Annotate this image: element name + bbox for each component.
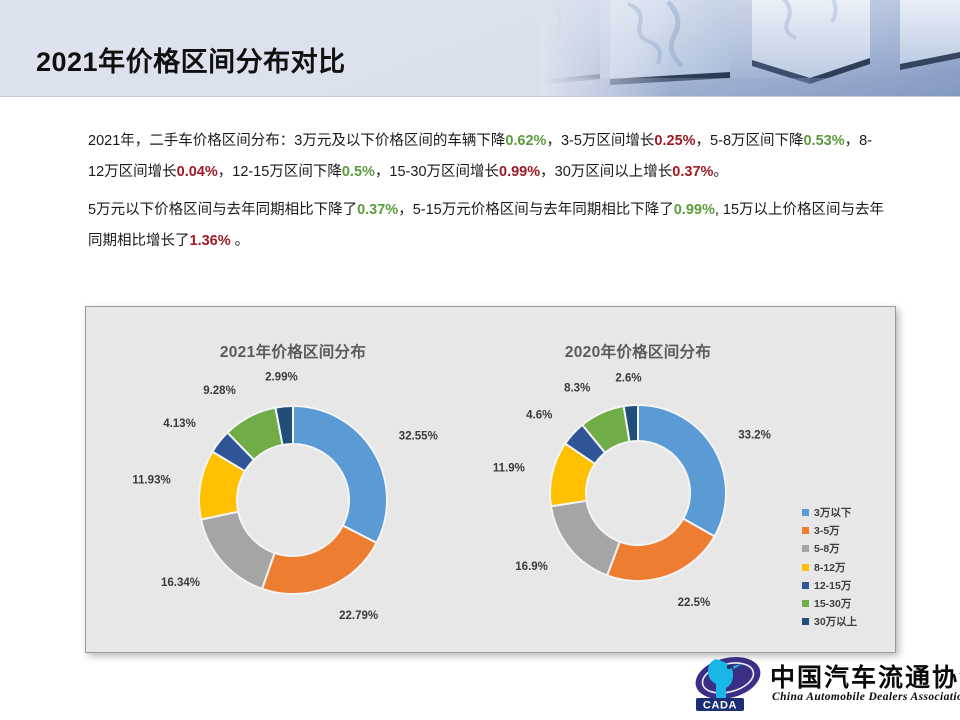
donut-label-12-15万: 4.6% <box>526 410 552 422</box>
legend-swatch-icon <box>802 509 809 516</box>
donut-slice-3-5万[interactable] <box>607 519 714 581</box>
slide-header: 2021年价格区间分布对比 <box>0 0 960 97</box>
text-run: ，12-15万区间下降 <box>218 164 342 180</box>
cada-logo: CADA 中国汽车流通协会 China Automobile Dealers A… <box>694 654 956 716</box>
donut-slice-3万以下[interactable] <box>293 406 387 543</box>
donut-label-15-30万: 9.28% <box>203 385 236 397</box>
increase-value: 1.36% <box>190 233 231 249</box>
text-run: 。 <box>231 233 250 249</box>
donut-label-8-12万: 11.93% <box>132 475 170 487</box>
chart-2021: 2021年价格区间分布 32.55%22.79%16.34%11.93%4.13… <box>98 307 488 654</box>
increase-value: 0.25% <box>654 133 695 149</box>
chart-legend: 3万以下3-5万5-8万8-12万12-15万15-30万30万以上 <box>802 503 884 631</box>
legend-item-3[interactable]: 8-12万 <box>802 558 884 576</box>
decrease-value: 0.53% <box>804 133 845 149</box>
header-divider <box>0 96 960 97</box>
legend-label: 3万以下 <box>814 505 851 520</box>
donut-label-3万以下: 32.55% <box>399 430 438 442</box>
body-text-block: 2021年，二手车价格区间分布：3万元及以下价格区间的车辆下降0.62%，3-5… <box>88 126 888 256</box>
text-run: ，3-5万区间增长 <box>546 133 654 149</box>
text-run: ，5-8万区间下降 <box>696 133 804 149</box>
chart-2021-title: 2021年价格区间分布 <box>98 340 488 362</box>
legend-item-5[interactable]: 15-30万 <box>802 594 884 612</box>
legend-item-6[interactable]: 30万以上 <box>802 613 884 631</box>
legend-swatch-icon <box>802 545 809 552</box>
text-run: ，5-15万元价格区间与去年同期相比下降了 <box>398 202 674 218</box>
chart-2020: 2020年价格区间分布 33.2%22.5%16.9%11.9%4.6%8.3%… <box>488 307 788 654</box>
increase-value: 0.99% <box>499 164 540 180</box>
decrease-value: 0.5% <box>342 164 375 180</box>
donut-slice-3万以下[interactable] <box>638 405 726 536</box>
donut-label-12-15万: 4.13% <box>163 418 196 430</box>
legend-label: 30万以上 <box>814 614 857 629</box>
cada-bird-globe-logo-icon: CADA <box>694 656 766 712</box>
donut-label-30万以上: 2.99% <box>265 372 298 384</box>
chart-2020-title: 2020年价格区间分布 <box>488 340 788 362</box>
decrease-value: 0.99% <box>674 202 715 218</box>
summary-paragraph-1: 2021年，二手车价格区间分布：3万元及以下价格区间的车辆下降0.62%，3-5… <box>88 126 888 187</box>
donut-label-3-5万: 22.5% <box>678 597 711 609</box>
legend-item-2[interactable]: 5-8万 <box>802 540 884 558</box>
donut-label-15-30万: 8.3% <box>564 382 590 394</box>
legend-swatch-icon <box>802 618 809 625</box>
donut-label-5-8万: 16.9% <box>515 561 548 573</box>
donut-slice-5-8万[interactable] <box>201 512 275 589</box>
donut-label-5-8万: 16.34% <box>161 577 200 589</box>
donut-slice-5-8万[interactable] <box>551 501 620 576</box>
logo-chinese-name: 中国汽车流通协会 <box>770 658 960 694</box>
decrease-value: 0.62% <box>505 133 546 149</box>
legend-swatch-icon <box>802 600 809 607</box>
legend-swatch-icon <box>802 564 809 571</box>
increase-value: 0.04% <box>177 164 218 180</box>
increase-value: 0.37% <box>672 164 713 180</box>
text-run: 5万元以下价格区间与去年同期相比下降了 <box>88 202 357 218</box>
donut-label-30万以上: 2.6% <box>615 372 641 384</box>
legend-item-4[interactable]: 12-15万 <box>802 576 884 594</box>
legend-swatch-icon <box>802 582 809 589</box>
cada-abbr-text: CADA <box>703 699 737 711</box>
donut-label-3万以下: 33.2% <box>738 430 771 442</box>
donut-slice-3-5万[interactable] <box>262 526 377 594</box>
legend-swatch-icon <box>802 527 809 534</box>
text-run: 2021年，二手车价格区间分布：3万元及以下价格区间的车辆下降 <box>88 133 505 149</box>
legend-label: 15-30万 <box>814 596 851 611</box>
page-title: 2021年价格区间分布对比 <box>36 40 346 79</box>
donut-label-3-5万: 22.79% <box>339 610 378 622</box>
text-run: ，30万区间以上增长 <box>540 164 672 180</box>
charts-panel: 2021年价格区间分布 32.55%22.79%16.34%11.93%4.13… <box>85 306 896 653</box>
legend-label: 3-5万 <box>814 523 840 538</box>
summary-paragraph-2: 5万元以下价格区间与去年同期相比下降了0.37%，5-15万元价格区间与去年同期… <box>88 195 888 256</box>
text-run: ，15-30万区间增长 <box>375 164 499 180</box>
legend-item-0[interactable]: 3万以下 <box>802 503 884 521</box>
legend-item-1[interactable]: 3-5万 <box>802 521 884 539</box>
decrease-value: 0.37% <box>357 202 398 218</box>
donut-label-8-12万: 11.9% <box>493 462 525 474</box>
legend-label: 5-8万 <box>814 541 840 556</box>
slide-canvas: 2021年价格区间分布对比 2021年，二手车价格区间分布：3万元及以下价格区间… <box>0 0 960 720</box>
blue-cubes-world-map-decoration-icon <box>540 0 960 97</box>
chart-2021-donut[interactable]: 32.55%22.79%16.34%11.93%4.13%9.28%2.99% <box>98 363 488 638</box>
text-run: 。 <box>713 164 728 180</box>
logo-english-name: China Automobile Dealers Association <box>772 691 960 703</box>
legend-label: 12-15万 <box>814 578 851 593</box>
legend-label: 8-12万 <box>814 560 846 575</box>
chart-2020-donut[interactable]: 33.2%22.5%16.9%11.9%4.6%8.3%2.6% <box>488 363 788 638</box>
